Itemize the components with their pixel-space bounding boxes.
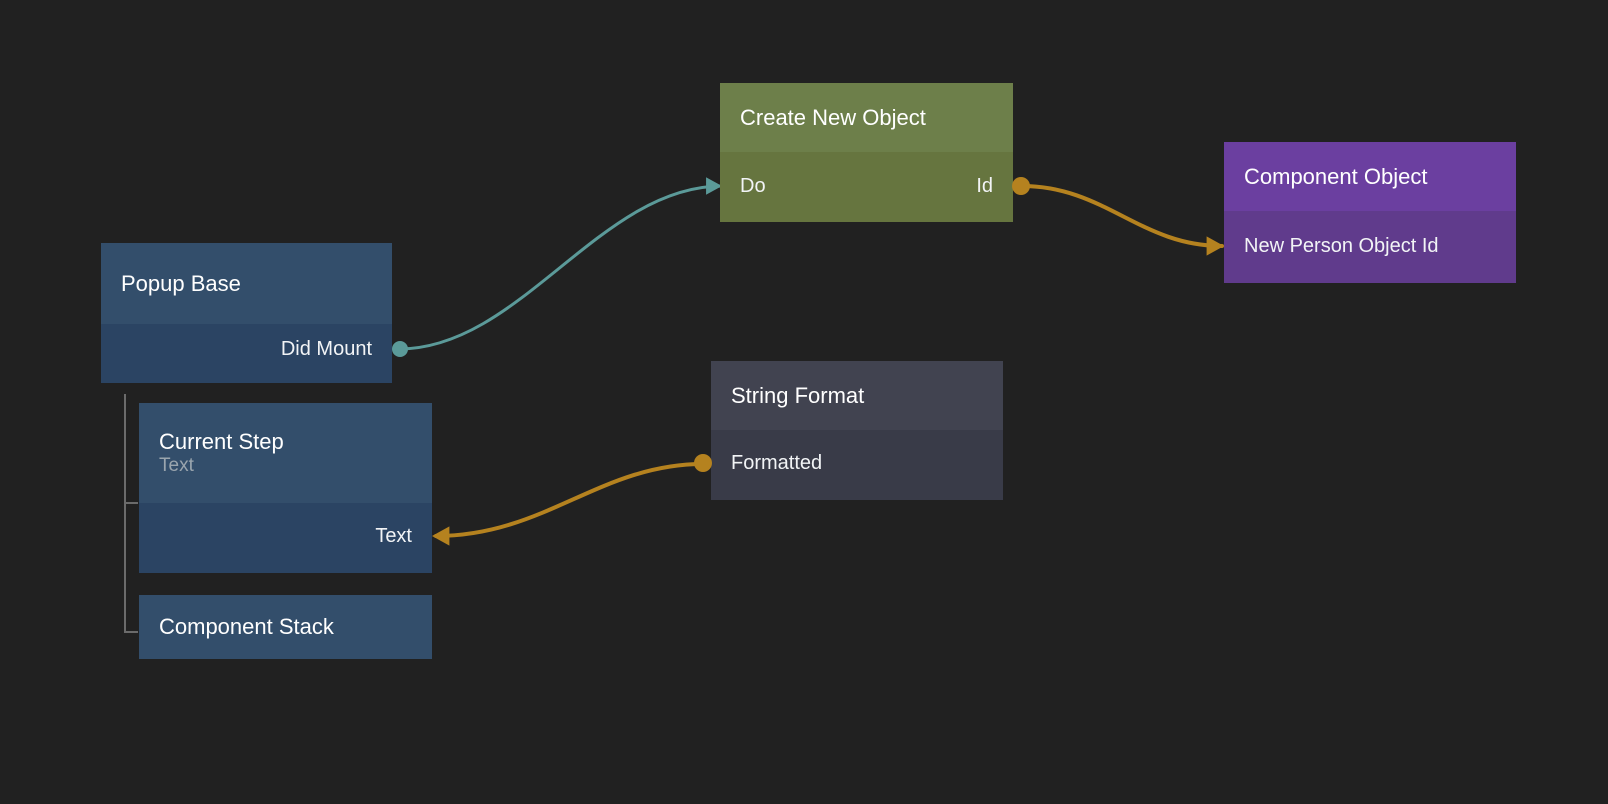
edge-arrowhead bbox=[1207, 236, 1224, 255]
node-header-current-step[interactable]: Current StepText bbox=[139, 403, 432, 503]
node-body-popup-base: Did Mount bbox=[101, 324, 392, 383]
port-label: Formatted bbox=[731, 452, 822, 475]
edge-path bbox=[436, 464, 703, 536]
edge-id-to-new-person-object-id bbox=[1022, 186, 1224, 256]
pin-dot-id-out[interactable] bbox=[1012, 177, 1030, 195]
node-header-popup-base[interactable]: Popup Base bbox=[101, 243, 392, 324]
node-title: Current Step bbox=[159, 429, 412, 455]
node-component-stack[interactable]: Component Stack bbox=[139, 595, 432, 659]
port-id-out[interactable]: Id bbox=[720, 172, 1013, 200]
pin-dot-formatted-out[interactable] bbox=[694, 454, 712, 472]
node-header-create-new-object[interactable]: Create New Object bbox=[720, 83, 1013, 152]
port-label: Did Mount bbox=[281, 338, 372, 361]
node-graph-canvas[interactable]: Popup BaseDid MountCurrent StepTextTextC… bbox=[0, 0, 1608, 804]
node-title: Create New Object bbox=[740, 105, 993, 131]
node-title: String Format bbox=[731, 383, 983, 409]
node-subtitle: Text bbox=[159, 455, 412, 478]
port-formatted-out[interactable]: Formatted bbox=[711, 449, 1003, 477]
port-label: Id bbox=[976, 175, 993, 198]
node-popup-base[interactable]: Popup BaseDid Mount bbox=[101, 243, 392, 383]
node-title: Component Object bbox=[1244, 164, 1496, 190]
tree-branch-line bbox=[124, 502, 138, 504]
node-header-string-format[interactable]: String Format bbox=[711, 361, 1003, 430]
node-body-component-object: New Person Object Id bbox=[1224, 211, 1516, 283]
node-title: Component Stack bbox=[159, 614, 412, 640]
node-component-object[interactable]: Component ObjectNew Person Object Id bbox=[1224, 142, 1516, 283]
node-header-component-stack[interactable]: Component Stack bbox=[139, 595, 432, 659]
edge-formatted-to-text bbox=[432, 464, 703, 546]
port-did-mount[interactable]: Did Mount bbox=[101, 335, 392, 363]
edge-path bbox=[399, 186, 722, 349]
edge-arrowhead bbox=[432, 526, 449, 545]
node-body-string-format: Formatted bbox=[711, 430, 1003, 500]
pin-dot-did-mount[interactable] bbox=[392, 341, 408, 357]
node-current-step[interactable]: Current StepTextText bbox=[139, 403, 432, 573]
port-label: New Person Object Id bbox=[1244, 235, 1439, 258]
node-header-component-object[interactable]: Component Object bbox=[1224, 142, 1516, 211]
port-label: Text bbox=[375, 525, 412, 548]
edge-did-mount-to-do bbox=[399, 177, 722, 349]
node-body-create-new-object: DoId bbox=[720, 152, 1013, 222]
tree-trunk-line bbox=[124, 394, 126, 632]
port-text-in[interactable]: Text bbox=[139, 522, 432, 550]
node-create-new-object[interactable]: Create New ObjectDoId bbox=[720, 83, 1013, 222]
node-title: Popup Base bbox=[121, 271, 372, 297]
edge-path bbox=[1022, 186, 1222, 246]
node-body-current-step: Text bbox=[139, 503, 432, 573]
port-new-person-object-id[interactable]: New Person Object Id bbox=[1224, 232, 1516, 260]
node-string-format[interactable]: String FormatFormatted bbox=[711, 361, 1003, 500]
tree-branch-line bbox=[124, 631, 138, 633]
